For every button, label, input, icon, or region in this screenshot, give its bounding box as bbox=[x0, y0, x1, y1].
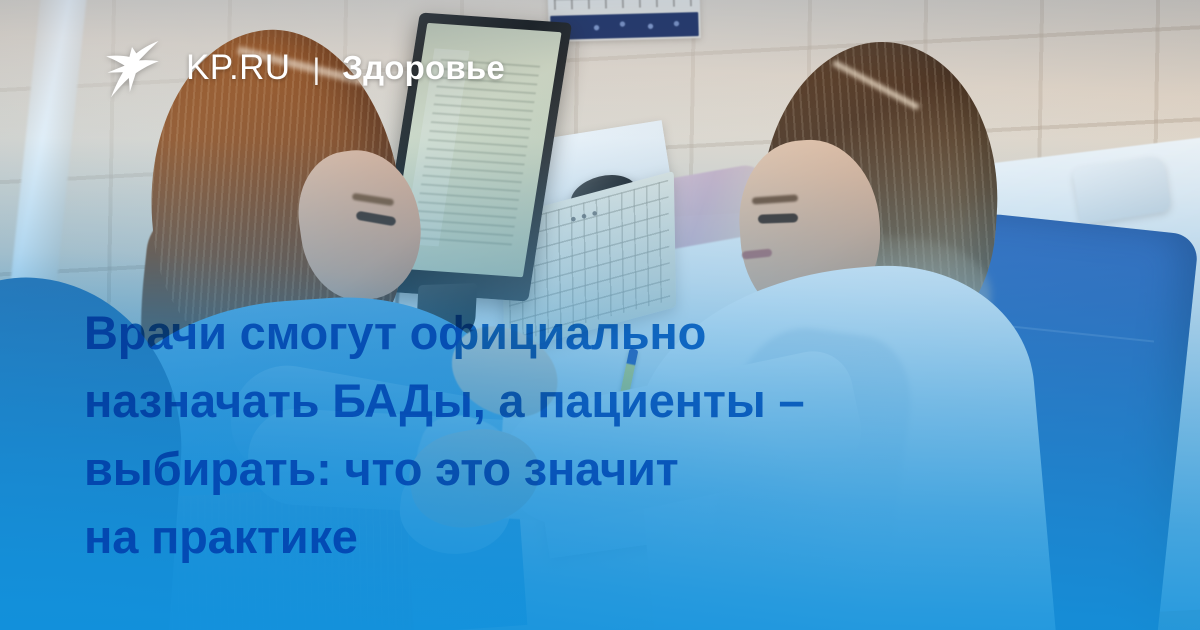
page-title: Врачи смогут официально назначать БАДы, … bbox=[84, 299, 914, 571]
title-line-4: на практике bbox=[84, 503, 914, 571]
title-line-3: выбирать: что это значит bbox=[84, 435, 914, 503]
brand-name: KP.RU bbox=[186, 50, 290, 85]
brand-separator: | bbox=[312, 55, 320, 85]
calendar-grid bbox=[553, 0, 694, 10]
brand-section-label: Здоровье bbox=[342, 51, 505, 84]
title-line-2: назначать БАДы, а пациенты – bbox=[84, 367, 914, 435]
calendar-band bbox=[550, 12, 699, 40]
doctor-eye bbox=[758, 213, 798, 223]
article-share-card: KP.RU | Здоровье Врачи смогут официально… bbox=[0, 0, 1200, 630]
swallow-bird-icon bbox=[96, 36, 162, 98]
brand-header[interactable]: KP.RU | Здоровье bbox=[96, 36, 505, 98]
title-line-1: Врачи смогут официально bbox=[84, 299, 914, 367]
brand-wordmark: KP.RU | Здоровье bbox=[186, 50, 505, 85]
wall-calendar bbox=[547, 0, 701, 42]
